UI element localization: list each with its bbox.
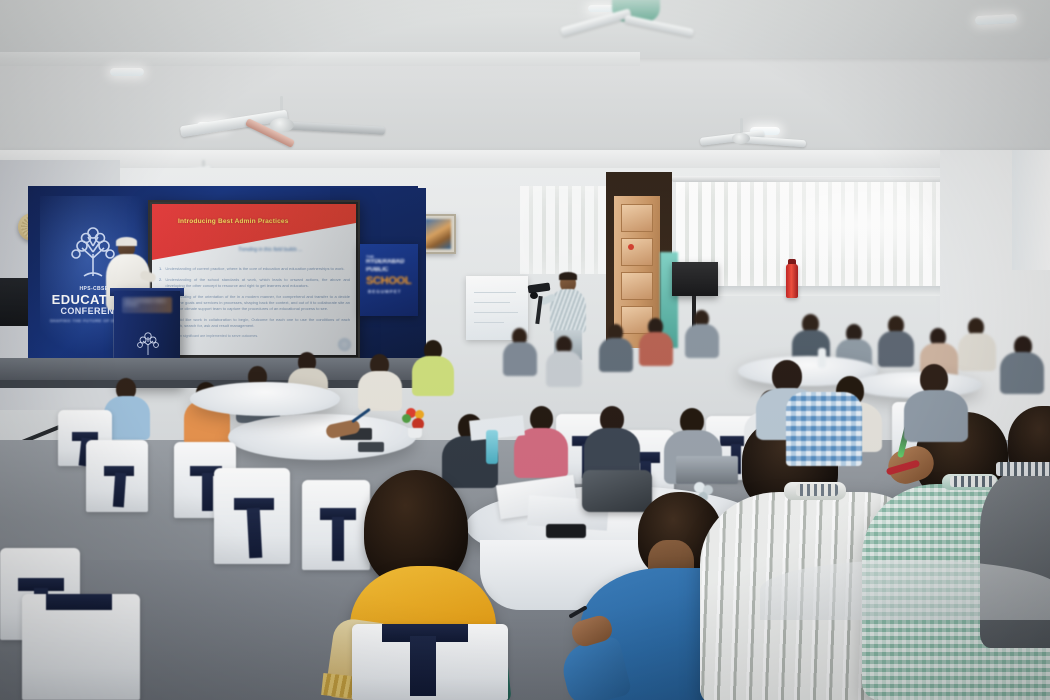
- laptop: [676, 456, 738, 484]
- ceiling-light-2: [110, 68, 144, 76]
- chair-cover: [214, 468, 290, 564]
- lanyard-tag: [796, 484, 838, 496]
- chair-cover: [86, 440, 148, 512]
- presenter-hair: [116, 237, 137, 246]
- window-blinds-center: [520, 186, 606, 274]
- standee-line2: HYDERABAD: [366, 259, 404, 265]
- banquet-table-left-back: [190, 382, 340, 416]
- chair-cover-foreground: [352, 624, 508, 700]
- mobile-phone: [546, 524, 586, 538]
- chair-cover: [302, 480, 370, 570]
- chair-cover: [22, 594, 140, 700]
- standee-line5: BEGUMPET: [368, 289, 402, 294]
- table-edge-front-right: [760, 560, 1050, 620]
- right-window-slot: [1012, 150, 1050, 270]
- conference-hall-photo: HPS-CBSE EDUCATORS CONFERENCE SHAPING TH…: [0, 0, 1050, 700]
- pa-speaker: [672, 262, 718, 296]
- mobile-phone: [358, 442, 384, 452]
- school-standee-banner: THE HYDERABAD PUBLIC SCHOOL BEGUMPET: [360, 244, 418, 316]
- screen-glare: [150, 202, 358, 357]
- lanyard-tag: [950, 476, 996, 487]
- ceiling-upper-slab: [0, 0, 1050, 58]
- banquet-table-left: [228, 414, 416, 460]
- standee-line3: PUBLIC: [366, 267, 388, 273]
- emergency-light-icon: [628, 244, 634, 250]
- backpack: [582, 470, 652, 512]
- standee-line4: SCHOOL: [366, 275, 411, 287]
- ceiling-secondary-beam: [0, 52, 640, 66]
- water-bottle: [818, 348, 826, 368]
- podium-tree-icon: [136, 331, 160, 357]
- podium-logo-text: THE HYDERABAD PUBLIC SCHOOL: [124, 299, 170, 308]
- lanyard-tag: [996, 462, 1050, 476]
- gimbal-lens: [530, 292, 538, 299]
- fire-extinguisher: [786, 264, 798, 298]
- attendee-blue-check-shirt: [786, 392, 862, 466]
- water-bottle: [486, 430, 498, 464]
- videographer-hair: [559, 272, 577, 280]
